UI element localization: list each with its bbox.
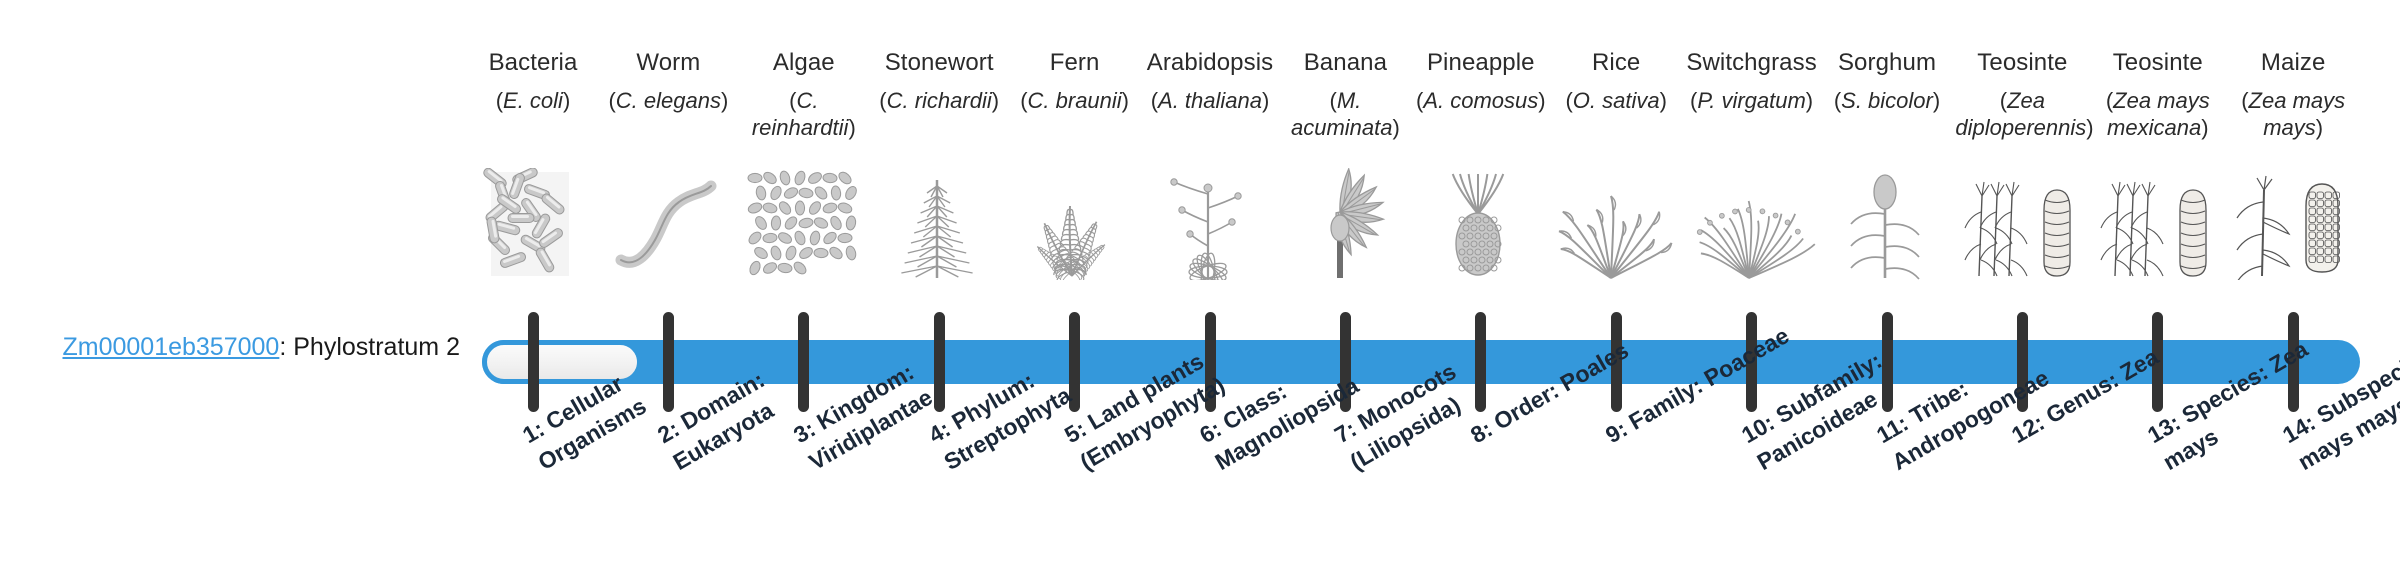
species-scientific-name: (C. richardii) bbox=[872, 87, 1006, 114]
species-scientific-name: (A. comosus) bbox=[1414, 87, 1548, 114]
species-common-name: Pineapple bbox=[1414, 48, 1548, 78]
species-column-4: Stonewort(C. richardii) bbox=[872, 48, 1006, 114]
stonewort-icon bbox=[864, 168, 1014, 280]
species-common-name: Teosinte bbox=[2091, 48, 2225, 78]
species-column-11: Sorghum(S. bicolor) bbox=[1820, 48, 1954, 114]
phylostratum-tick-1[interactable] bbox=[528, 312, 539, 412]
gene-phylostratum-label: Zm00001eb357000: Phylostratum 2 bbox=[40, 333, 460, 362]
switchgrass-icon bbox=[1677, 168, 1827, 280]
species-common-name: Stonewort bbox=[872, 48, 1006, 78]
species-column-12: Teosinte(Zea diploperennis) bbox=[1955, 48, 2089, 141]
fern-icon bbox=[1000, 168, 1150, 280]
species-common-name: Sorghum bbox=[1820, 48, 1954, 78]
species-column-6: Arabidopsis(A. thaliana) bbox=[1143, 48, 1277, 114]
species-scientific-name: (P. virgatum) bbox=[1685, 87, 1819, 114]
species-scientific-name: (S. bicolor) bbox=[1820, 87, 1954, 114]
phylostratum-timeline: Zm00001eb357000: Phylostratum 2 Bacteria… bbox=[0, 0, 2400, 580]
species-scientific-name: (C. braunii) bbox=[1008, 87, 1142, 114]
species-column-8: Pineapple(A. comosus) bbox=[1414, 48, 1548, 114]
species-scientific-name: (Zea mays mexicana) bbox=[2091, 87, 2225, 141]
arabidopsis-icon bbox=[1135, 168, 1285, 280]
species-column-13: Teosinte(Zea mays mexicana) bbox=[2091, 48, 2225, 141]
species-scientific-name: (O. sativa) bbox=[1549, 87, 1683, 114]
species-scientific-name: (E. coli) bbox=[466, 87, 600, 114]
species-column-7: Banana(M. acuminata) bbox=[1278, 48, 1412, 141]
gene-id-link[interactable]: Zm00001eb357000 bbox=[62, 333, 279, 361]
banana-icon bbox=[1270, 168, 1420, 280]
algae-icon bbox=[729, 168, 879, 280]
species-scientific-name: (M. acuminata) bbox=[1278, 87, 1412, 141]
sorghum-icon bbox=[1812, 168, 1962, 280]
pineapple-icon bbox=[1406, 168, 1556, 280]
species-common-name: Fern bbox=[1008, 48, 1142, 78]
species-common-name: Teosinte bbox=[1955, 48, 2089, 78]
species-common-name: Banana bbox=[1278, 48, 1412, 78]
species-column-5: Fern(C. braunii) bbox=[1008, 48, 1142, 114]
species-common-name: Bacteria bbox=[466, 48, 600, 78]
gene-phylostratum-value: Phylostratum 2 bbox=[293, 333, 460, 361]
species-column-14: Maize(Zea mays mays) bbox=[2226, 48, 2360, 141]
worm-icon bbox=[593, 168, 743, 280]
species-column-10: Switchgrass(P. virgatum) bbox=[1685, 48, 1819, 114]
species-common-name: Arabidopsis bbox=[1143, 48, 1277, 78]
species-scientific-name: (C. elegans) bbox=[601, 87, 735, 114]
teosinte-icon bbox=[2083, 168, 2233, 280]
maize-icon bbox=[2218, 168, 2368, 280]
species-common-name: Worm bbox=[601, 48, 735, 78]
rice-icon bbox=[1541, 168, 1691, 280]
gene-label-separator: : bbox=[279, 333, 293, 361]
species-scientific-name: (A. thaliana) bbox=[1143, 87, 1277, 114]
species-common-name: Maize bbox=[2226, 48, 2360, 78]
species-column-3: Algae(C. reinhardtii) bbox=[737, 48, 871, 141]
species-column-1: Bacteria(E. coli) bbox=[466, 48, 600, 114]
species-scientific-name: (C. reinhardtii) bbox=[737, 87, 871, 141]
bacteria-icon bbox=[458, 168, 608, 280]
species-common-name: Rice bbox=[1549, 48, 1683, 78]
species-common-name: Switchgrass bbox=[1685, 48, 1819, 78]
teosinte-icon bbox=[1947, 168, 2097, 280]
species-scientific-name: (Zea diploperennis) bbox=[1955, 87, 2089, 141]
species-column-9: Rice(O. sativa) bbox=[1549, 48, 1683, 114]
species-column-2: Worm(C. elegans) bbox=[601, 48, 735, 114]
species-scientific-name: (Zea mays mays) bbox=[2226, 87, 2360, 141]
species-common-name: Algae bbox=[737, 48, 871, 78]
